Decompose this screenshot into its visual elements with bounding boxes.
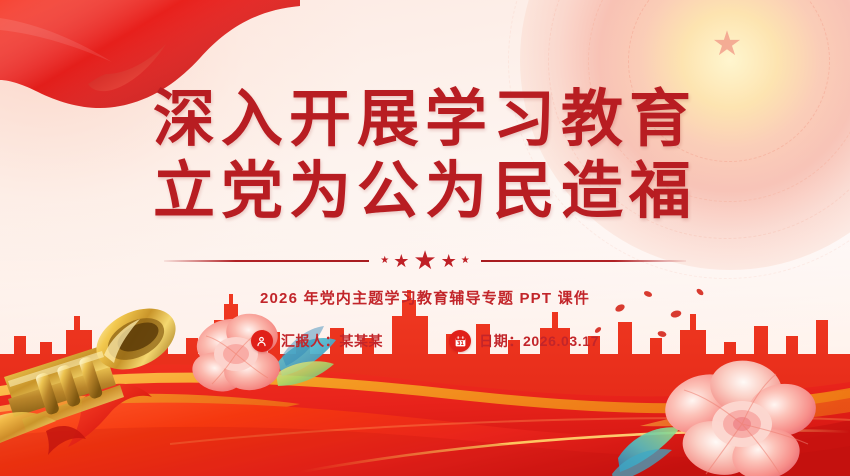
peony-leaf — [276, 361, 334, 386]
peony-leaf — [618, 427, 680, 472]
peony-veins-main — [684, 374, 808, 474]
title-line-1: 深入开展学习教育 — [0, 84, 850, 156]
trumpet-tube-third — [22, 385, 124, 431]
starburst-center-star-icon: ★ — [710, 28, 744, 62]
divider-rule-left — [164, 260, 369, 262]
slide-content: 深入开展学习教育 立党为公为民造福 ★ ★ ★ ★ ★ 2026 年党内主题学习… — [0, 84, 850, 352]
star-divider: ★ ★ ★ ★ ★ — [0, 248, 850, 274]
date-label: 日期：2026.03.17 — [479, 331, 599, 351]
silk-shadow — [0, 427, 850, 476]
presenter-label: 汇报人：某某某 — [281, 331, 383, 351]
divider-rule-right — [481, 260, 686, 262]
trumpet-hand-glow — [0, 412, 56, 449]
meta-row: 汇报人：某某某 31 日期：2026.03.17 — [0, 330, 850, 352]
trumpet-tube-lower — [8, 367, 116, 417]
gold-streak-upper — [0, 373, 850, 414]
silk-fold-line — [170, 418, 850, 444]
peony-flower-right — [610, 332, 820, 476]
divider-star-5-icon: ★ — [461, 256, 470, 266]
silk-wave-front — [0, 403, 850, 476]
trumpet-ribbon-tail — [46, 426, 86, 455]
trumpet-ribbon — [68, 384, 152, 447]
trumpet-tube-upper — [4, 345, 112, 399]
divider-star-4-icon: ★ — [441, 252, 457, 270]
title-line-2: 立党为公为民造福 — [0, 156, 850, 228]
divider-star-2-icon: ★ — [393, 252, 409, 270]
subtitle: 2026 年党内主题学习教育辅导专题 PPT 课件 — [0, 287, 850, 308]
peony-leaf — [612, 449, 672, 476]
divider-star-1-icon: ★ — [380, 256, 389, 266]
gold-highlight-curve — [300, 431, 850, 473]
gold-swath-right — [640, 390, 850, 426]
divider-star-3-icon: ★ — [413, 248, 436, 274]
peony-petals-main — [656, 355, 819, 476]
divider-stars: ★ ★ ★ ★ ★ — [380, 248, 470, 274]
svg-text:31: 31 — [457, 340, 464, 346]
presentation-slide: ★ 深入开展学习教育 立党为公为民造福 — [0, 0, 850, 476]
person-icon — [251, 330, 273, 352]
calendar-icon: 31 — [449, 330, 471, 352]
flag-highlight — [0, 18, 112, 62]
trumpet-highlight — [8, 351, 104, 387]
presenter-meta-item: 汇报人：某某某 — [251, 330, 383, 352]
gold-swath-left — [0, 394, 300, 444]
silk-wave-back — [0, 365, 850, 476]
date-meta-item: 31 日期：2026.03.17 — [449, 330, 599, 352]
trumpet-valves — [35, 356, 104, 416]
